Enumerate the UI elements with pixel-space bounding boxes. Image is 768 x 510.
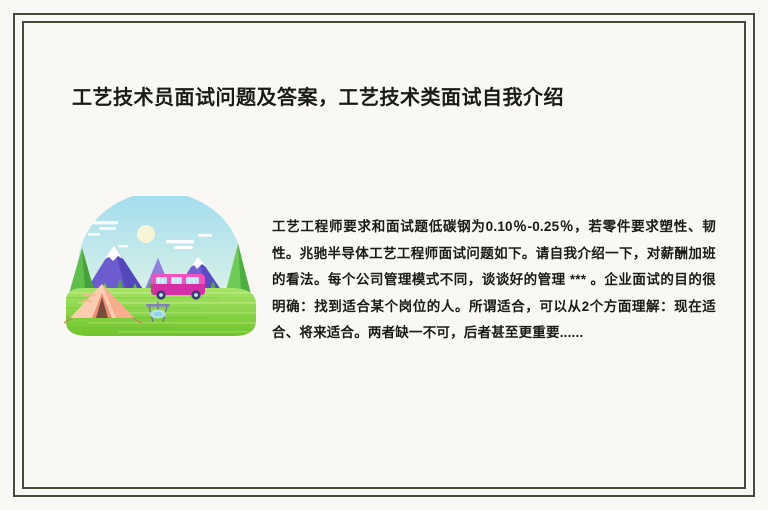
article-card: 工艺技术员面试问题及答案，工艺技术类面试自我介绍 <box>0 0 768 510</box>
article-body: 工艺工程师要求和面试题低碳钢为0.10％-0.25％，若零件要求塑性、韧性。兆驰… <box>272 214 716 347</box>
van-window <box>156 277 167 284</box>
page-title: 工艺技术员面试问题及答案，工艺技术类面试自我介绍 <box>72 84 712 112</box>
sun-icon <box>137 225 155 243</box>
van-window <box>171 277 182 284</box>
camping-illustration <box>58 196 263 344</box>
van-window <box>186 277 199 284</box>
